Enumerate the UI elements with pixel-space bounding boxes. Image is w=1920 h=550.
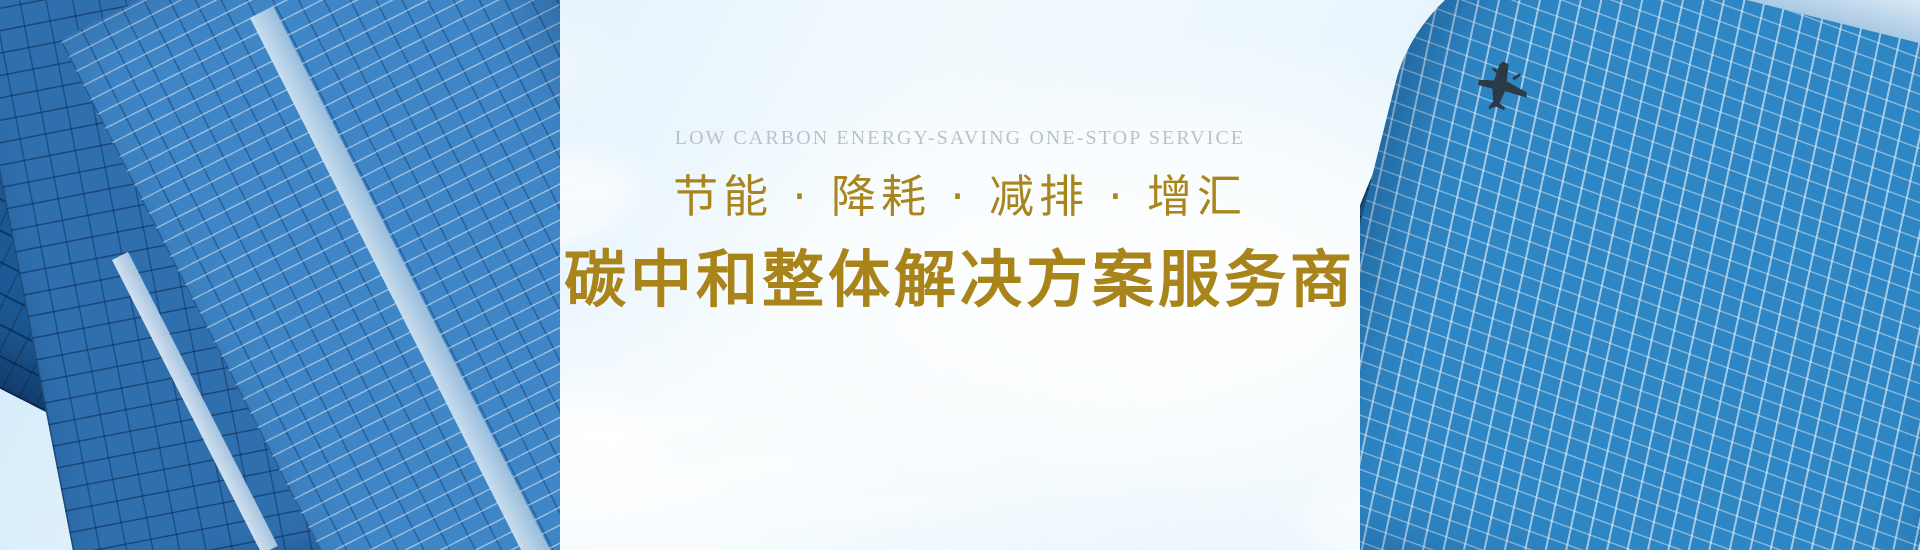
- hero-banner: LOW CARBON ENERGY-SAVING ONE-STOP SERVIC…: [0, 0, 1920, 550]
- banner-subtitle: 节能 · 降耗 · 减排 · 增汇: [673, 174, 1247, 219]
- banner-eyebrow: LOW CARBON ENERGY-SAVING ONE-STOP SERVIC…: [675, 128, 1245, 148]
- banner-copy: LOW CARBON ENERGY-SAVING ONE-STOP SERVIC…: [0, 0, 1920, 550]
- banner-headline: 碳中和整体解决方案服务商: [564, 249, 1356, 311]
